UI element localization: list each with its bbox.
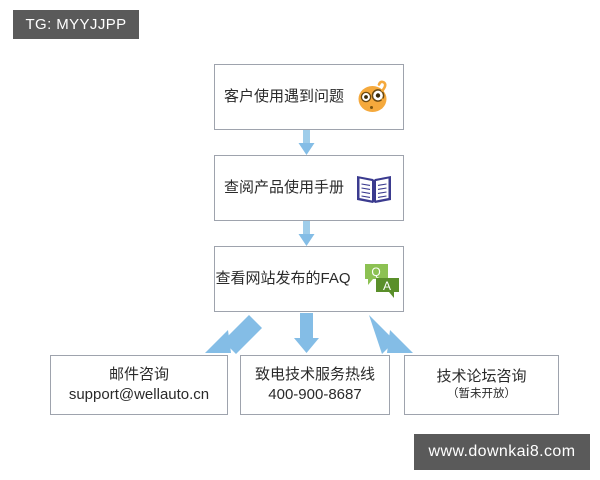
flow-node-problem-content: 客户使用遇到问题 [215, 77, 403, 117]
qa-icon-answer-letter: A [383, 279, 391, 293]
flow-outcome-forum[interactable]: 技术论坛咨询 （暂未开放） [404, 355, 559, 415]
flow-outcome-forum-status: （暂未开放） [447, 387, 516, 403]
flow-node-problem[interactable]: 客户使用遇到问题 [214, 64, 404, 130]
flow-outcome-email-address: support@wellauto.cn [69, 385, 209, 405]
flow-outcome-phone[interactable]: 致电技术服务热线 400-900-8687 [240, 355, 390, 415]
open-book-icon [354, 168, 394, 208]
flow-outcome-email-title: 邮件咨询 [109, 365, 169, 385]
flow-node-problem-label: 客户使用遇到问题 [224, 87, 344, 107]
flowchart-canvas: TG: MYYJJPP 客户使用遇到问题 [0, 0, 600, 480]
flow-outcome-phone-title: 致电技术服务热线 [255, 365, 375, 385]
flow-outcome-forum-title: 技术论坛咨询 [436, 367, 526, 387]
flow-node-manual-content: 查阅产品使用手册 [215, 168, 403, 208]
flow-outcome-phone-content: 致电技术服务热线 400-900-8687 [255, 365, 375, 406]
flow-outcome-email-content: 邮件咨询 support@wellauto.cn [69, 365, 209, 406]
connector-faq-to-forum [369, 315, 413, 354]
site-watermark-badge: www.downkai8.com [414, 434, 590, 470]
flow-node-manual-label: 查阅产品使用手册 [224, 178, 344, 198]
connector-problem-to-manual [299, 130, 315, 155]
connector-manual-to-faq [299, 221, 315, 246]
connector-faq-to-phone [294, 313, 319, 353]
connector-faq-to-email [205, 315, 262, 354]
flow-node-faq-content: 查看网站发布的FAQ Q A [215, 259, 403, 299]
qa-icon-question-letter: Q [371, 265, 380, 279]
flow-outcome-email[interactable]: 邮件咨询 support@wellauto.cn [50, 355, 228, 415]
confused-face-emoji [354, 77, 394, 117]
flow-outcome-forum-content: 技术论坛咨询 （暂未开放） [436, 367, 526, 403]
telegram-watermark-badge: TG: MYYJJPP [13, 10, 139, 39]
flow-outcome-phone-number: 400-900-8687 [268, 385, 361, 405]
qa-speech-bubbles-icon: Q A [361, 259, 403, 299]
flow-node-faq-label: 查看网站发布的FAQ [216, 269, 351, 289]
flow-node-manual[interactable]: 查阅产品使用手册 [214, 155, 404, 221]
flow-node-faq[interactable]: 查看网站发布的FAQ Q A [214, 246, 404, 312]
